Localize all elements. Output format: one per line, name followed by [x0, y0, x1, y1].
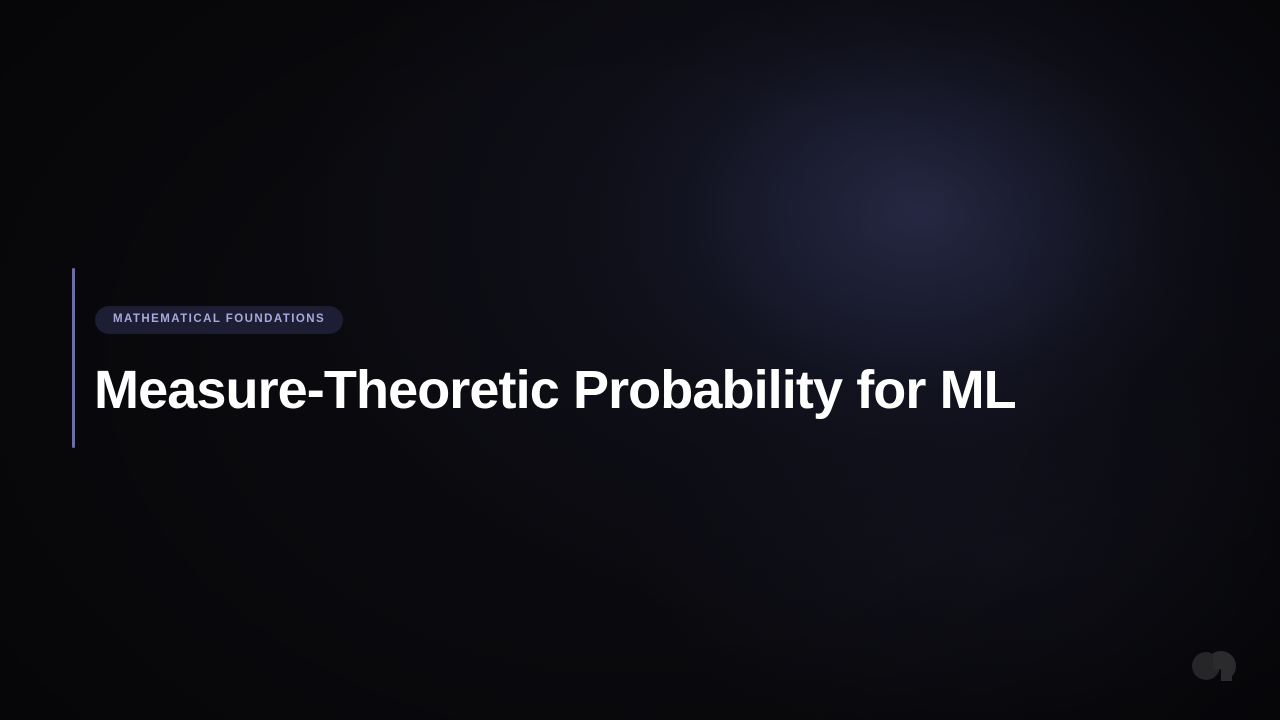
- slide-content-block: MATHEMATICAL FOUNDATIONS Measure-Theoret…: [72, 268, 96, 448]
- presentation-slide: MATHEMATICAL FOUNDATIONS Measure-Theoret…: [0, 0, 1280, 720]
- category-badge: MATHEMATICAL FOUNDATIONS: [95, 306, 343, 334]
- slide-title: Measure-Theoretic Probability for ML: [94, 360, 1016, 420]
- accent-bar: [72, 268, 75, 448]
- brand-logo-mark: [1189, 647, 1237, 685]
